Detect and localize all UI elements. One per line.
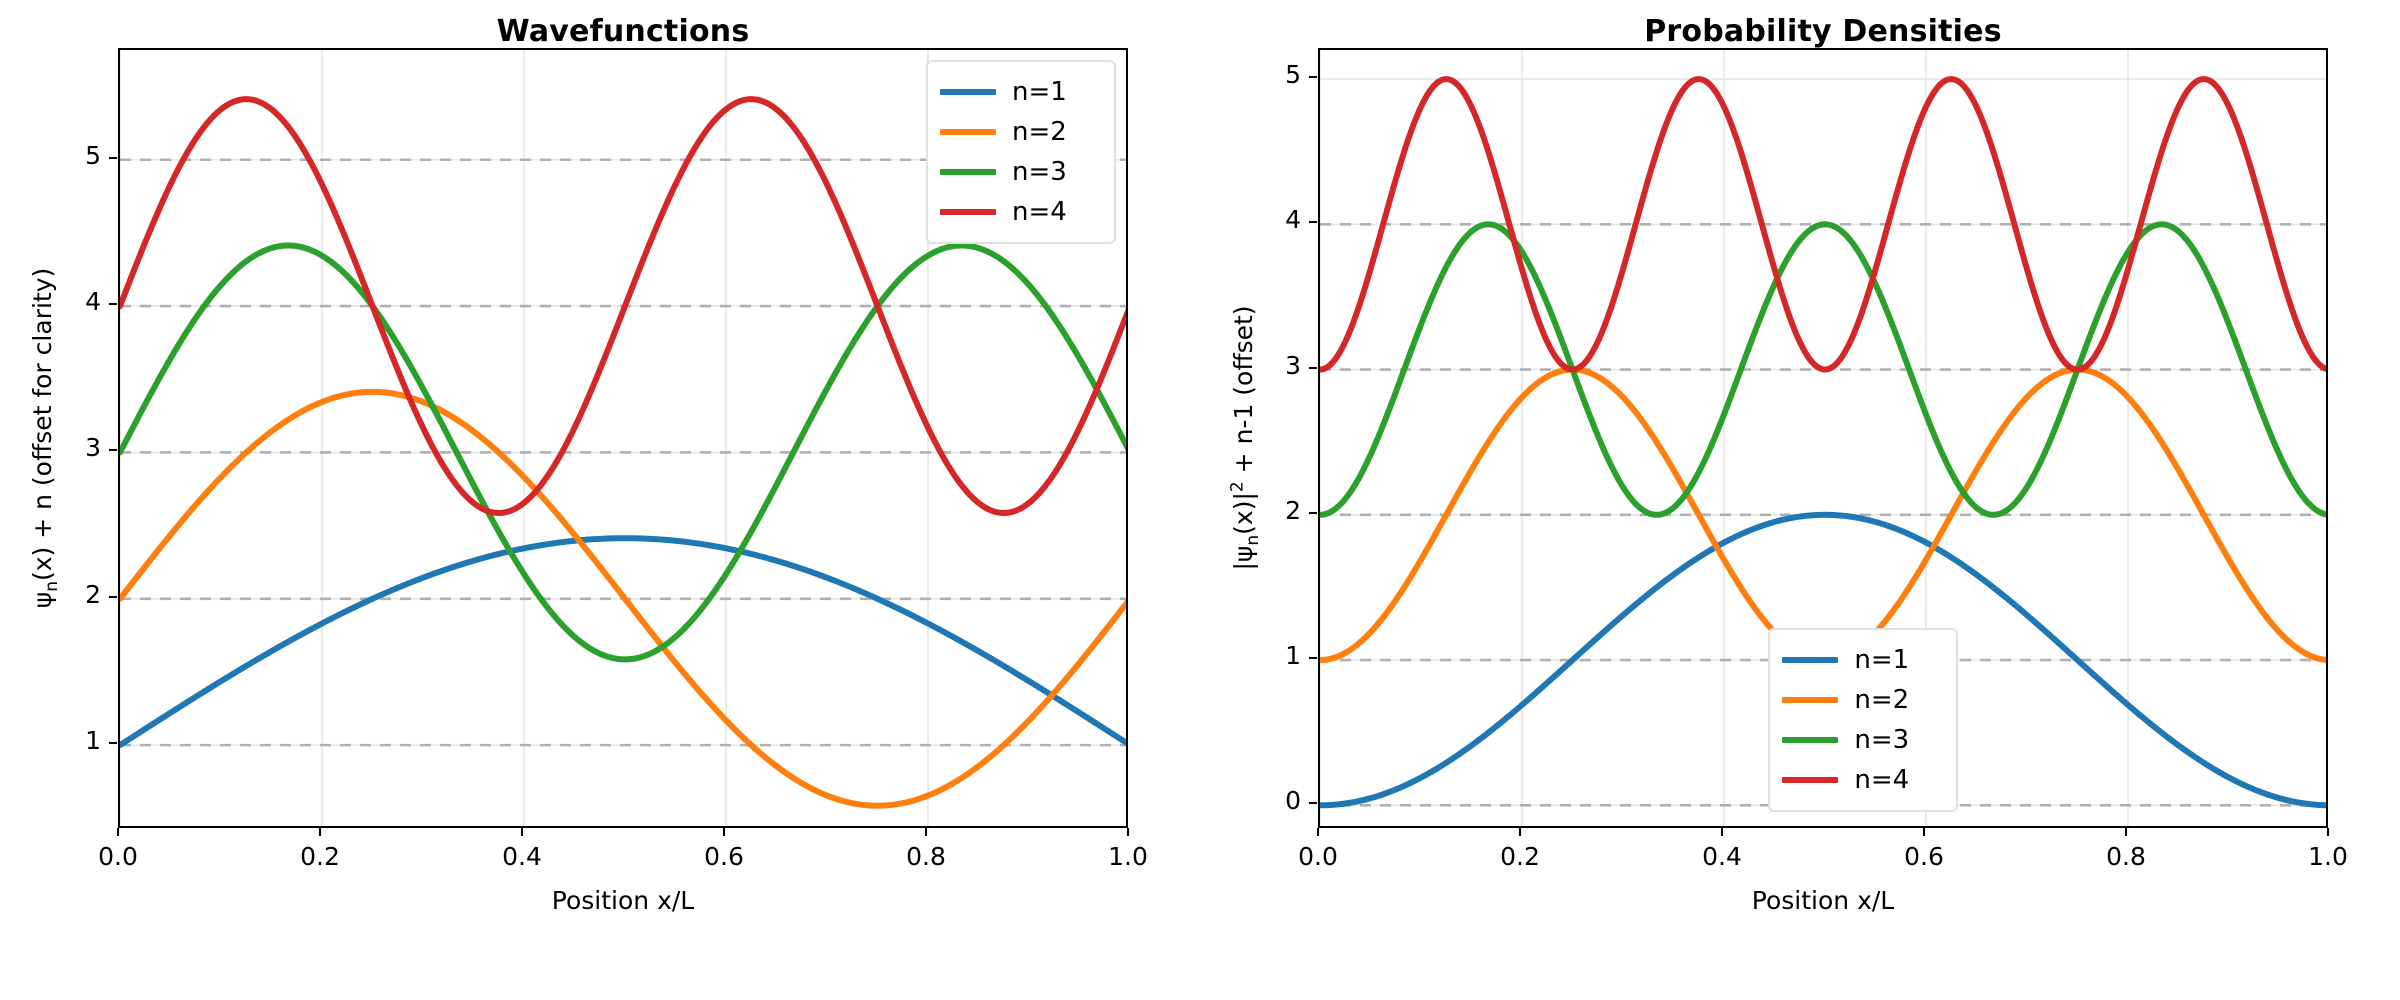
- x-tick-label: 0.4: [472, 842, 572, 871]
- x-tick-label: 1.0: [1078, 842, 1178, 871]
- y-tick-mark: [109, 157, 117, 159]
- y-tick-mark: [109, 449, 117, 451]
- x-tick-label: 0.0: [68, 842, 168, 871]
- figure-canvas: Wavefunctions ψn(x) + n (offset for clar…: [0, 0, 2400, 1000]
- x-tick-label: 0.6: [1874, 842, 1974, 871]
- legend-label: n=4: [1854, 765, 1909, 795]
- legend-label: n=3: [1854, 725, 1909, 755]
- y-axis-label-right-text: |ψn(x)|2 + n-1 (offset): [1229, 305, 1258, 570]
- legend-swatch-n3: [940, 169, 996, 175]
- x-tick-mark: [2125, 828, 2127, 836]
- legend-item[interactable]: n=4: [1782, 760, 1942, 800]
- x-tick-mark: [521, 828, 523, 836]
- x-tick-label: 0.6: [674, 842, 774, 871]
- y-tick-label: 1: [1233, 641, 1301, 670]
- y-tick-mark: [109, 742, 117, 744]
- x-tick-mark: [2327, 828, 2329, 836]
- x-tick-label: 0.4: [1672, 842, 1772, 871]
- x-tick-label: 0.8: [876, 842, 976, 871]
- panel-probability-densities: Probability Densities |ψn(x)|2 + n-1 (of…: [1200, 0, 2400, 1000]
- y-tick-label: 2: [1233, 496, 1301, 525]
- legend-label: n=2: [1012, 117, 1067, 147]
- y-tick-mark: [109, 303, 117, 305]
- x-axis-label-left: Position x/L: [118, 886, 1128, 915]
- y-tick-mark: [1309, 802, 1317, 804]
- x-tick-mark: [1519, 828, 1521, 836]
- y-tick-label: 3: [1233, 351, 1301, 380]
- legend-label: n=1: [1012, 77, 1067, 107]
- y-tick-label: 5: [1233, 60, 1301, 89]
- panel-title-right: Probability Densities: [1318, 14, 2328, 49]
- x-tick-mark: [319, 828, 321, 836]
- x-tick-label: 0.2: [270, 842, 370, 871]
- y-tick-label: 4: [1233, 205, 1301, 234]
- legend-label: n=1: [1854, 645, 1909, 675]
- legend-swatch-n2: [1782, 697, 1838, 703]
- x-tick-mark: [1127, 828, 1129, 836]
- panel-wavefunctions: Wavefunctions ψn(x) + n (offset for clar…: [0, 0, 1200, 1000]
- y-tick-mark: [109, 596, 117, 598]
- legend-item[interactable]: n=2: [1782, 680, 1942, 720]
- legend-probability-densities[interactable]: n=1n=2n=3n=4: [1768, 628, 1958, 812]
- legend-wavefunctions[interactable]: n=1n=2n=3n=4: [926, 60, 1116, 244]
- x-tick-mark: [925, 828, 927, 836]
- legend-item[interactable]: n=1: [940, 72, 1100, 112]
- y-tick-label: 2: [33, 580, 101, 609]
- y-axis-label-right: |ψn(x)|2 + n-1 (offset): [1228, 305, 1263, 570]
- x-tick-mark: [1721, 828, 1723, 836]
- y-tick-mark: [1309, 221, 1317, 223]
- legend-swatch-n4: [1782, 777, 1838, 783]
- y-tick-mark: [1309, 657, 1317, 659]
- legend-item[interactable]: n=2: [940, 112, 1100, 152]
- legend-item[interactable]: n=4: [940, 192, 1100, 232]
- x-tick-mark: [117, 828, 119, 836]
- legend-swatch-n4: [940, 209, 996, 215]
- x-tick-mark: [1923, 828, 1925, 836]
- legend-swatch-n1: [940, 89, 996, 95]
- panel-title-left: Wavefunctions: [118, 14, 1128, 49]
- x-tick-mark: [723, 828, 725, 836]
- legend-item[interactable]: n=3: [940, 152, 1100, 192]
- x-tick-mark: [1317, 828, 1319, 836]
- legend-label: n=2: [1854, 685, 1909, 715]
- x-tick-label: 1.0: [2278, 842, 2378, 871]
- legend-swatch-n1: [1782, 657, 1838, 663]
- x-tick-label: 0.0: [1268, 842, 1368, 871]
- x-axis-label-right: Position x/L: [1318, 886, 2328, 915]
- y-tick-label: 5: [33, 141, 101, 170]
- legend-swatch-n3: [1782, 737, 1838, 743]
- legend-item[interactable]: n=1: [1782, 640, 1942, 680]
- legend-swatch-n2: [940, 129, 996, 135]
- y-tick-mark: [1309, 76, 1317, 78]
- y-tick-label: 4: [33, 287, 101, 316]
- legend-item[interactable]: n=3: [1782, 720, 1942, 760]
- y-tick-mark: [1309, 367, 1317, 369]
- y-tick-mark: [1309, 512, 1317, 514]
- x-tick-label: 0.2: [1470, 842, 1570, 871]
- y-tick-label: 1: [33, 726, 101, 755]
- y-tick-label: 3: [33, 433, 101, 462]
- y-tick-label: 0: [1233, 786, 1301, 815]
- legend-label: n=3: [1012, 157, 1067, 187]
- legend-label: n=4: [1012, 197, 1067, 227]
- x-tick-label: 0.8: [2076, 842, 2176, 871]
